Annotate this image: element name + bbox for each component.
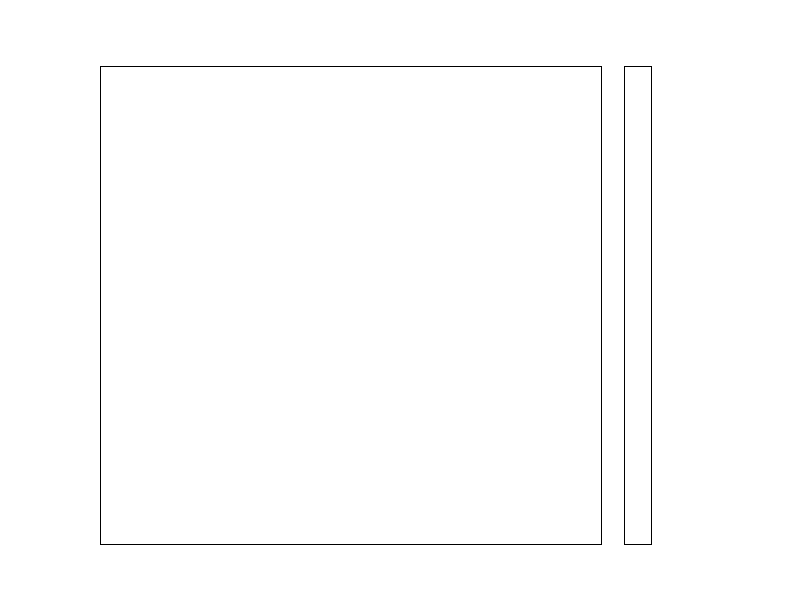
colorbar-gradient bbox=[625, 67, 651, 544]
colorbar bbox=[624, 66, 652, 545]
density-scatter-canvas bbox=[101, 67, 601, 544]
plot-area bbox=[100, 66, 602, 545]
figure-canvas bbox=[0, 0, 800, 600]
